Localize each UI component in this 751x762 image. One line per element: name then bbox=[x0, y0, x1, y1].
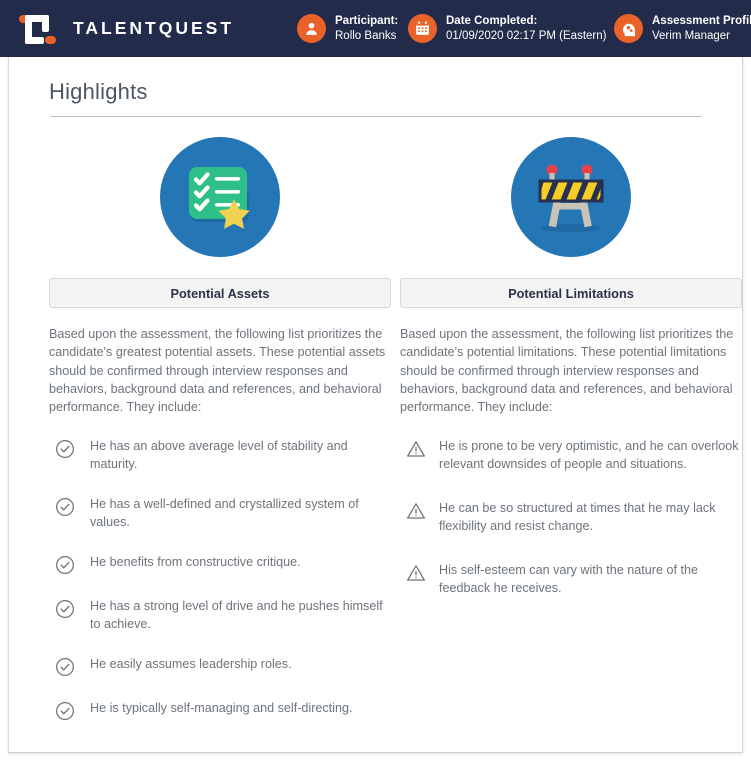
check-circle-icon bbox=[55, 701, 75, 721]
assets-illustration bbox=[49, 137, 391, 261]
report-page: Highlights bbox=[8, 57, 743, 753]
meta-label: Date Completed: bbox=[446, 14, 606, 28]
meta-label: Participant: bbox=[335, 14, 398, 28]
list-item-text: He has a strong level of drive and he pu… bbox=[90, 598, 391, 633]
meta-value: Rollo Banks bbox=[335, 29, 398, 43]
brand-logo[interactable]: TALENTQUEST bbox=[19, 11, 279, 47]
list-item: He has a strong level of drive and he pu… bbox=[49, 598, 391, 633]
checklist-star-icon bbox=[160, 137, 280, 257]
list-item-text: He is typically self-managing and self-d… bbox=[90, 700, 353, 718]
check-circle-icon bbox=[55, 657, 75, 677]
list-item: He easily assumes leadership roles. bbox=[49, 656, 391, 677]
check-circle-icon bbox=[55, 439, 75, 459]
limitations-list: He is prone to be very optimistic, and h… bbox=[400, 438, 742, 597]
list-item: He has an above average level of stabili… bbox=[49, 438, 391, 473]
assets-intro-text: Based upon the assessment, the following… bbox=[49, 325, 391, 416]
head-gear-icon bbox=[614, 14, 643, 43]
list-item-text: His self-esteem can vary with the nature… bbox=[439, 562, 742, 597]
warning-triangle-icon bbox=[406, 501, 426, 521]
calendar-icon bbox=[408, 14, 437, 43]
list-item: He is prone to be very optimistic, and h… bbox=[400, 438, 742, 473]
header-meta-assessment-profile: Assessment Profile: Verim Manager bbox=[614, 14, 751, 43]
list-item-text: He has a well-defined and crystallized s… bbox=[90, 496, 391, 531]
meta-label: Assessment Profile: bbox=[652, 14, 751, 28]
list-item-text: He has an above average level of stabili… bbox=[90, 438, 391, 473]
list-item-text: He benefits from constructive critique. bbox=[90, 554, 301, 572]
talentquest-logo-icon bbox=[19, 11, 59, 47]
list-item: He benefits from constructive critique. bbox=[49, 554, 391, 575]
list-item-text: He easily assumes leadership roles. bbox=[90, 656, 292, 674]
check-circle-icon bbox=[55, 497, 75, 517]
meta-value: Verim Manager bbox=[652, 29, 751, 43]
warning-triangle-icon bbox=[406, 563, 426, 583]
section-heading-potential-limitations: Potential Limitations bbox=[400, 278, 742, 308]
brand-name: TALENTQUEST bbox=[73, 18, 234, 39]
list-item: His self-esteem can vary with the nature… bbox=[400, 562, 742, 597]
limitations-illustration bbox=[400, 137, 742, 261]
app-header: TALENTQUEST Participant: Rollo Banks bbox=[0, 0, 751, 57]
check-circle-icon bbox=[55, 599, 75, 619]
header-meta-date: Date Completed: 01/09/2020 02:17 PM (Eas… bbox=[408, 14, 606, 43]
page-title: Highlights bbox=[9, 57, 742, 105]
list-item-text: He can be so structured at times that he… bbox=[439, 500, 742, 535]
section-heading-potential-assets: Potential Assets bbox=[49, 278, 391, 308]
warning-triangle-icon bbox=[406, 439, 426, 459]
column-potential-assets: Potential Assets Based upon the assessme… bbox=[49, 137, 391, 744]
check-circle-icon bbox=[55, 555, 75, 575]
list-item-text: He is prone to be very optimistic, and h… bbox=[439, 438, 742, 473]
limitations-intro-text: Based upon the assessment, the following… bbox=[400, 325, 742, 416]
person-icon bbox=[297, 14, 326, 43]
meta-value: 01/09/2020 02:17 PM (Eastern) bbox=[446, 29, 606, 43]
highlights-columns: Potential Assets Based upon the assessme… bbox=[9, 137, 742, 744]
list-item: He can be so structured at times that he… bbox=[400, 500, 742, 535]
list-item: He has a well-defined and crystallized s… bbox=[49, 496, 391, 531]
title-divider bbox=[50, 116, 702, 117]
road-barrier-icon bbox=[511, 137, 631, 257]
column-potential-limitations: Potential Limitations Based upon the ass… bbox=[400, 137, 742, 744]
list-item: He is typically self-managing and self-d… bbox=[49, 700, 391, 721]
header-meta-participant: Participant: Rollo Banks bbox=[297, 14, 398, 43]
assets-list: He has an above average level of stabili… bbox=[49, 438, 391, 721]
